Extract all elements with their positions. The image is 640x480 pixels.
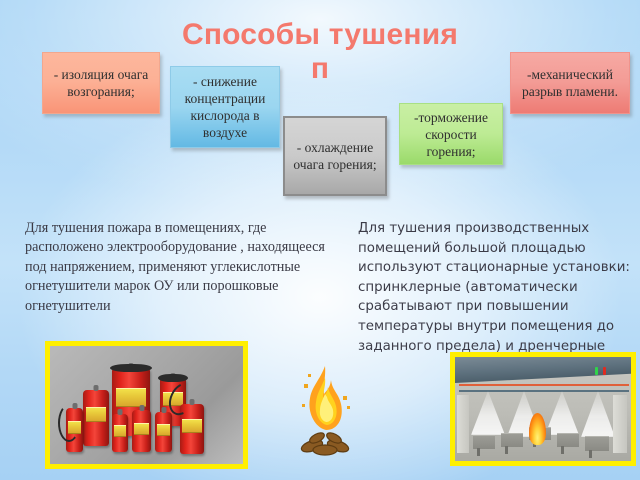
equipment-unit-4 — [557, 433, 579, 447]
extinguisher-hose-left — [58, 404, 80, 442]
firewood-logs — [300, 431, 350, 455]
method-box-isolation[interactable]: - изоляция очага возгорания; — [42, 52, 160, 114]
extinguisher-small-3 — [132, 410, 151, 452]
extinguisher-small-4 — [155, 412, 172, 452]
equipment-unit-2 — [501, 433, 523, 447]
method-box-oxygen-reduction-label: - снижение концентрации кислорода в возд… — [176, 73, 274, 141]
method-box-mechanical-flame-break[interactable]: -механический разрыв пламени. — [510, 52, 630, 114]
bonfire-clipart — [290, 360, 360, 465]
presentation-slide: Способы тушения п - изоляция очага возго… — [0, 0, 640, 480]
method-box-combustion-slowdown-label: -торможение скорости горения; — [405, 109, 497, 160]
wall-right — [613, 395, 627, 453]
method-box-mechanical-flame-break-label: -механический разрыв пламени. — [516, 66, 624, 100]
method-box-isolation-label: - изоляция очага возгорания; — [48, 66, 154, 100]
wall-left — [457, 395, 469, 453]
method-box-oxygen-reduction[interactable]: - снижение концентрации кислорода в возд… — [170, 66, 280, 148]
equipment-unit-1 — [473, 435, 495, 449]
paragraph-indoor-extinguishers: Для тушения пожара в помещениях, где рас… — [25, 219, 335, 316]
ceiling-pipe-blue — [459, 390, 629, 392]
indicator-led-red — [603, 367, 606, 375]
method-box-cooling-label: - охлаждение очага горения; — [290, 139, 380, 173]
extinguisher-small-2 — [112, 414, 128, 452]
indicator-led-green — [595, 367, 598, 375]
ceiling-pipe-red — [459, 384, 629, 386]
method-box-combustion-slowdown[interactable]: -торможение скорости горения; — [399, 103, 503, 165]
paragraph-industrial-sprinklers: Для тушения производственных помещений б… — [358, 219, 636, 356]
slide-title-line1: Способы тушения — [0, 18, 640, 52]
method-box-cooling[interactable]: - охлаждение очага горения; — [283, 116, 387, 196]
flame-shape — [309, 366, 341, 430]
photo-sprinkler-system — [450, 352, 636, 466]
photo-fire-extinguishers — [45, 341, 248, 469]
equipment-unit-5 — [585, 436, 609, 451]
extinguisher-tall-left — [83, 390, 109, 446]
